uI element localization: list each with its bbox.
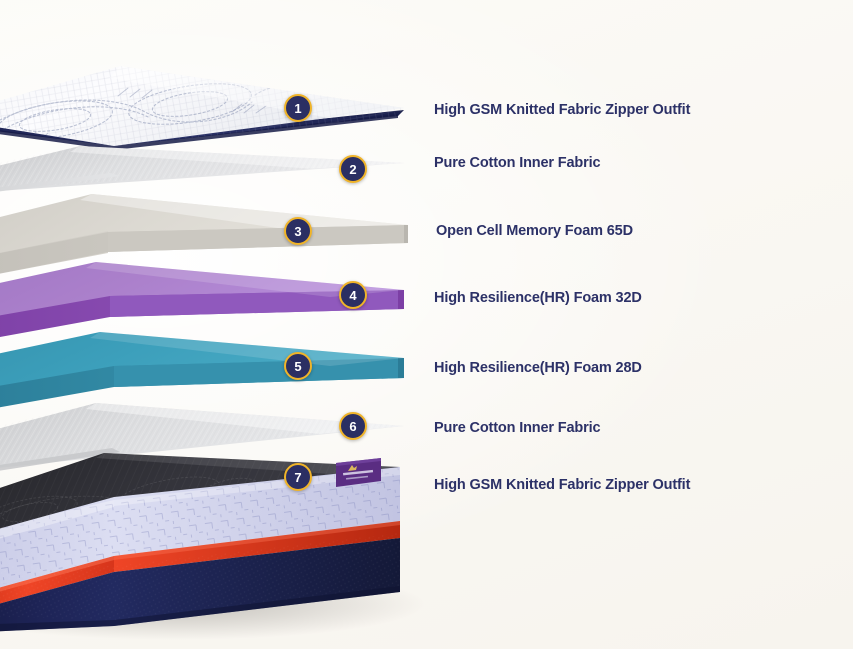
layer-label-1: High GSM Knitted Fabric Zipper Outfit xyxy=(434,102,690,118)
layer-label-row-2: Pure Cotton Inner Fabric xyxy=(434,154,600,172)
layer-badge-6[interactable]: 6 xyxy=(339,412,367,440)
layer-5-hr-foam-28d xyxy=(0,332,404,418)
layer-label-row-1: High GSM Knitted Fabric Zipper Outfit xyxy=(434,101,690,119)
layer-badge-4-number: 4 xyxy=(349,288,356,303)
layer-badge-2-number: 2 xyxy=(349,162,356,177)
layer-label-7: High GSM Knitted Fabric Zipper Outfit xyxy=(434,477,690,493)
layer-label-4: High Resilience(HR) Foam 32D xyxy=(434,290,642,306)
layer-badge-6-number: 6 xyxy=(349,419,356,434)
mattress-layer-diagram: 1 2 3 4 5 6 7 High GSM Knitted Fabric Zi… xyxy=(0,0,853,649)
layer-label-row-7: High GSM Knitted Fabric Zipper Outfit xyxy=(434,476,690,494)
layer-badge-3-number: 3 xyxy=(294,224,301,239)
layer-badge-7[interactable]: 7 xyxy=(284,463,312,491)
layer-badge-5-number: 5 xyxy=(294,359,301,374)
layer-badge-5[interactable]: 5 xyxy=(284,352,312,380)
layer-label-row-4: High Resilience(HR) Foam 32D xyxy=(434,289,642,307)
layer-label-row-3: Open Cell Memory Foam 65D xyxy=(436,222,633,240)
layer-badge-2[interactable]: 2 xyxy=(339,155,367,183)
layer-label-6: Pure Cotton Inner Fabric xyxy=(434,420,600,436)
layer-label-row-6: Pure Cotton Inner Fabric xyxy=(434,419,600,437)
layer-badge-4[interactable]: 4 xyxy=(339,281,367,309)
exploded-layers-illustration xyxy=(0,0,853,649)
layer-badge-7-number: 7 xyxy=(294,470,301,485)
layer-label-2: Pure Cotton Inner Fabric xyxy=(434,155,600,171)
layer-1-knitted-cover xyxy=(0,60,420,155)
layer-label-5: High Resilience(HR) Foam 28D xyxy=(434,360,642,376)
layer-badge-3[interactable]: 3 xyxy=(284,217,312,245)
layer-badge-1-number: 1 xyxy=(294,101,301,116)
layer-label-3: Open Cell Memory Foam 65D xyxy=(436,223,633,239)
layer-label-row-5: High Resilience(HR) Foam 28D xyxy=(434,359,642,377)
layer-badge-1[interactable]: 1 xyxy=(284,94,312,122)
